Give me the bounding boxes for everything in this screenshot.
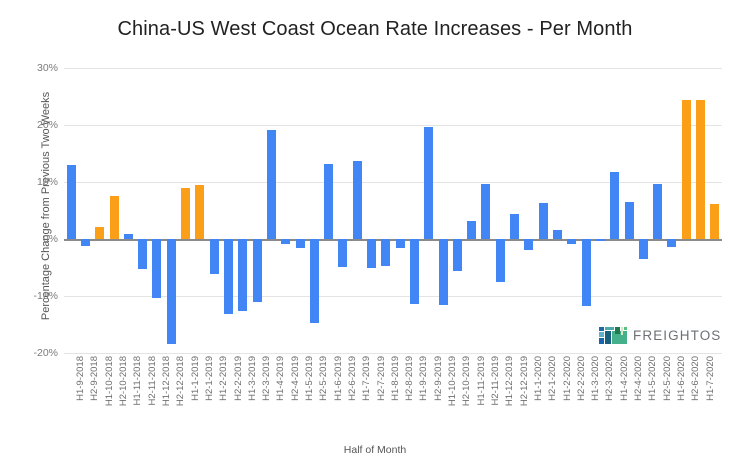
bar-H1-7-2019 — [353, 161, 362, 239]
bar-H1-2-2020 — [553, 230, 562, 239]
bar-series — [64, 68, 722, 353]
x-axis-tick-label: H1-11-2018 — [132, 356, 143, 405]
x-axis-tick-label: H1-4-2019 — [275, 356, 286, 401]
x-axis-tick-label: H2-5-2019 — [318, 356, 329, 401]
x-axis-tick-label: H2-12-2019 — [519, 356, 530, 406]
x-axis-tick-label: H2-9-2019 — [433, 356, 444, 401]
bar-H1-3-2019 — [238, 239, 247, 311]
bar-H1-5-2019 — [296, 239, 305, 248]
bar-H2-12-2018 — [167, 239, 176, 344]
x-axis-tick-label: H2-3-2019 — [261, 356, 272, 401]
freightos-logo: FREIGHTOS — [599, 327, 721, 344]
x-axis-tick-label: H2-1-2019 — [204, 356, 215, 401]
x-axis-tick-label: H1-7-2019 — [361, 356, 372, 401]
bar-H2-7-2019 — [367, 239, 376, 268]
x-axis-tick-label: H1-5-2020 — [647, 356, 658, 401]
x-axis-tick-label: H2-9-2018 — [89, 356, 100, 401]
bar-H2-2-2020 — [567, 239, 576, 244]
bar-H1-7-2020 — [696, 100, 705, 239]
y-axis-tick-label: -20% — [14, 347, 58, 359]
x-axis-tick-label: H1-9-2019 — [418, 356, 429, 401]
bar-H2-1-2019 — [195, 185, 204, 239]
x-axis-tick-label: H2-5-2020 — [662, 356, 673, 401]
bar-H1-11-2019 — [467, 221, 476, 239]
x-axis-tick-label: H2-2-2019 — [233, 356, 244, 401]
bar-H1-9-2018 — [67, 165, 76, 239]
bar-H2-9-2018 — [81, 239, 90, 246]
bar-H2-4-2019 — [281, 239, 290, 244]
chart-title: China-US West Coast Ocean Rate Increases… — [0, 18, 750, 41]
x-axis-tick-label: H1-7-2020 — [705, 356, 716, 401]
bar-H2-1-2020 — [539, 203, 548, 239]
x-axis-tick-label: H2-6-2019 — [347, 356, 358, 401]
y-axis-tick-label: 20% — [14, 119, 58, 131]
x-axis-tick-label: H1-3-2020 — [590, 356, 601, 401]
bar-H2-5-2020 — [653, 184, 662, 239]
x-axis-tick-label: H1-6-2019 — [333, 356, 344, 401]
x-axis-tick-label: H2-10-2018 — [118, 356, 129, 406]
y-axis-tick-label: -10% — [14, 290, 58, 302]
bar-H2-9-2019 — [424, 127, 433, 239]
x-axis-tick-label: H2-4-2019 — [290, 356, 301, 401]
x-axis-tick-label: H2-6-2020 — [690, 356, 701, 401]
bar-H1-2-2019 — [210, 239, 219, 274]
bar-H2-11-2018 — [138, 239, 147, 269]
freightos-mosaic-logo-icon — [599, 327, 627, 344]
bar-H1-8-2019 — [381, 239, 390, 266]
gridline — [64, 353, 722, 354]
chart-container: China-US West Coast Ocean Rate Increases… — [0, 0, 750, 472]
bar-H1-5-2020 — [639, 239, 648, 259]
x-axis-tick-label: H2-12-2018 — [175, 356, 186, 406]
bar-H1-11-2018 — [124, 234, 133, 239]
bar-H2-6-2019 — [338, 239, 347, 267]
bar-H1-1-2019 — [181, 188, 190, 239]
x-axis-tick-label: H1-12-2019 — [504, 356, 515, 406]
x-axis-tick-label: H1-2-2020 — [562, 356, 573, 401]
bar-H1-9-2019 — [410, 239, 419, 304]
bar-H2-8-2019 — [396, 239, 405, 248]
x-axis-tick-label: H1-10-2018 — [104, 356, 115, 406]
bar-H2-3-2020 — [596, 239, 605, 241]
bar-H1-12-2019 — [496, 239, 505, 282]
bar-H2-11-2019 — [481, 184, 490, 239]
x-axis-tick-label: H1-2-2019 — [218, 356, 229, 401]
bar-H1-4-2020 — [610, 172, 619, 239]
x-axis-tick-label: H1-5-2019 — [304, 356, 315, 401]
x-axis-tick-label: H1-8-2019 — [390, 356, 401, 401]
x-axis-tick-label: H2-11-2019 — [490, 356, 501, 405]
plot-area — [64, 68, 722, 353]
bar-H1-1-2020 — [524, 239, 533, 250]
x-axis-tick-labels: H1-9-2018H2-9-2018H1-10-2018H2-10-2018H1… — [64, 356, 722, 438]
x-axis-tick-label: H2-10-2019 — [461, 356, 472, 406]
bar-H1-10-2018 — [95, 227, 104, 239]
x-axis-tick-label: H2-4-2020 — [633, 356, 644, 401]
bar-H1-4-2019 — [267, 130, 276, 239]
x-axis-tick-label: H2-3-2020 — [604, 356, 615, 401]
x-axis-tick-label: H1-12-2018 — [161, 356, 172, 406]
y-axis-tick-label: 10% — [14, 176, 58, 188]
y-axis-tick-label: 30% — [14, 62, 58, 74]
bar-H2-6-2020 — [682, 100, 691, 239]
bar-H2-2-2019 — [224, 239, 233, 314]
bar-H1-6-2019 — [324, 164, 333, 239]
bar-H2-12-2019 — [510, 214, 519, 239]
x-axis-title: Half of Month — [0, 444, 750, 456]
bar-H1-3-2020 — [582, 239, 591, 306]
bar-H2-10-2019 — [453, 239, 462, 271]
x-axis-tick-label: H2-8-2019 — [404, 356, 415, 401]
x-axis-tick-label: H1-1-2020 — [533, 356, 544, 401]
x-axis-tick-label: H1-10-2019 — [447, 356, 458, 406]
x-axis-tick-label: H1-6-2020 — [676, 356, 687, 401]
bar-H2-10-2018 — [110, 196, 119, 239]
x-axis-tick-label: H2-2-2020 — [576, 356, 587, 401]
bar-H2-4-2020 — [625, 202, 634, 239]
y-axis-tick-label: 0% — [14, 233, 58, 245]
x-axis-tick-label: H1-9-2018 — [75, 356, 86, 401]
x-axis-tick-label: H1-4-2020 — [619, 356, 630, 401]
bar-H2-3-2019 — [253, 239, 262, 302]
bar-H2-5-2019 — [310, 239, 319, 323]
bar-H1-12-2018 — [152, 239, 161, 298]
x-axis-tick-label: H2-11-2018 — [147, 356, 158, 405]
bar-trailing — [710, 204, 719, 239]
x-axis-tick-label: H1-11-2019 — [476, 356, 487, 405]
x-axis-tick-label: H2-1-2020 — [547, 356, 558, 401]
bar-H1-6-2020 — [667, 239, 676, 247]
bar-H1-10-2019 — [439, 239, 448, 305]
brand-name: FREIGHTOS — [633, 328, 721, 343]
y-axis-title: Percentage Change from Previous Two Week… — [40, 56, 52, 356]
x-axis-tick-label: H1-3-2019 — [247, 356, 258, 401]
x-axis-tick-label: H2-7-2019 — [376, 356, 387, 401]
x-axis-tick-label: H1-1-2019 — [190, 356, 201, 401]
